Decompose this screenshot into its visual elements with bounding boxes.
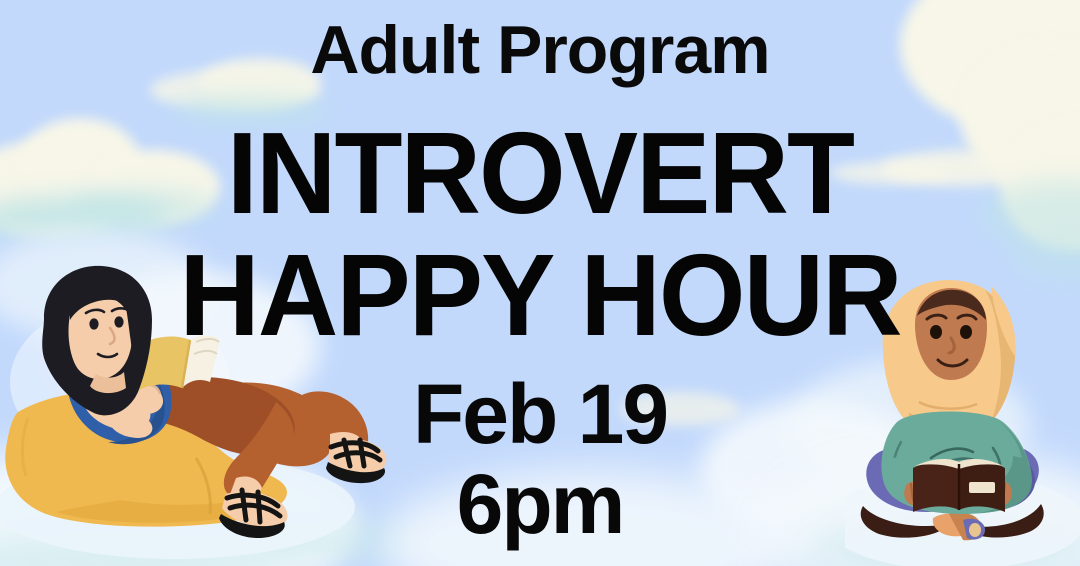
program-kicker: Adult Program	[0, 16, 1080, 84]
headline-line-2: HAPPY HOUR	[22, 240, 1059, 350]
event-flyer: Adult Program INTROVERT HAPPY HOUR Feb 1…	[0, 0, 1080, 566]
headline-line-1: INTROVERT	[22, 118, 1059, 228]
event-time: 6pm	[0, 462, 1080, 546]
event-date: Feb 19	[0, 372, 1080, 456]
